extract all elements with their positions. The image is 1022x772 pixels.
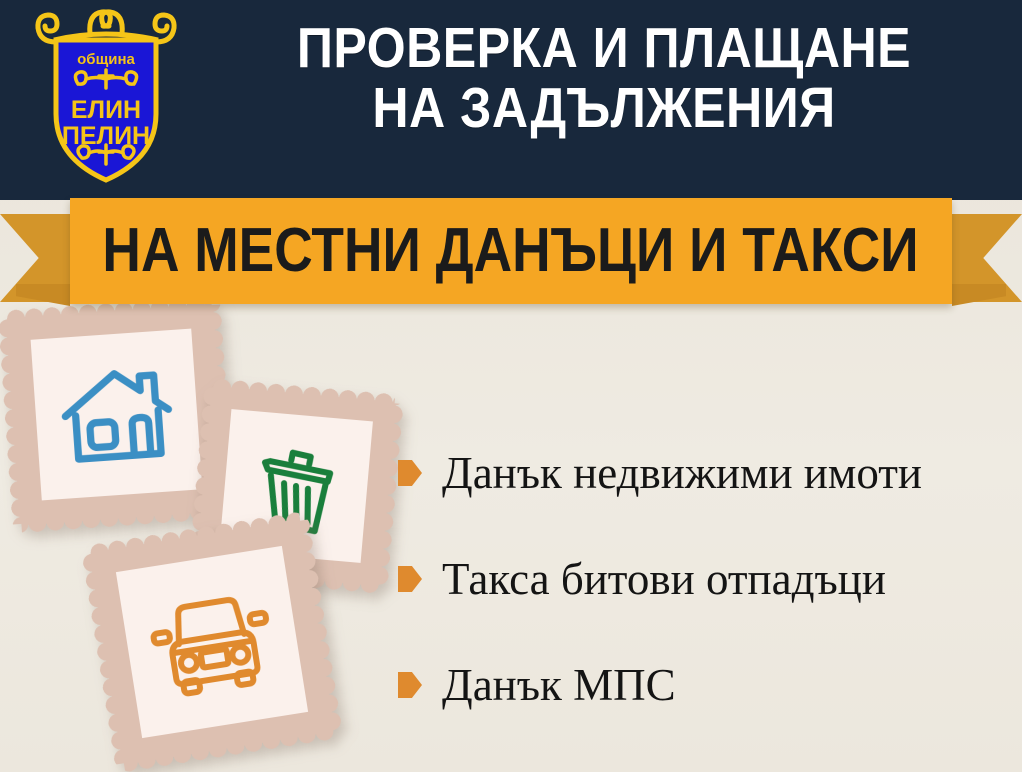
stamp-real-estate: [7, 305, 226, 524]
list-item-label: Данък МПС: [442, 661, 676, 709]
list-item-label: Данък недвижими имоти: [442, 449, 922, 497]
page-title: ПРОВЕРКА И ПЛАЩАНЕ НА ЗАДЪЛЖЕНИЯ: [236, 18, 972, 138]
ribbon-fold-right: [952, 284, 1006, 306]
list-item[interactable]: Данък МПС: [398, 632, 1008, 738]
car-icon: [139, 578, 285, 707]
ribbon-label: НА МЕСТНИ ДАНЪЦИ И ТАКСИ: [103, 220, 919, 282]
tax-types-list: Данък недвижими имоти Такса битови отпад…: [398, 420, 1008, 738]
header-bar: община ЕЛИН ПЕЛИН: [0, 0, 1022, 200]
bullet-arrow-icon: [398, 566, 422, 592]
house-icon: [50, 348, 182, 480]
coat-of-arms-icon: община ЕЛИН ПЕЛИН: [26, 6, 186, 186]
stamp-paper: [116, 546, 308, 738]
subtitle-ribbon: НА МЕСТНИ ДАНЪЦИ И ТАКСИ: [0, 196, 1022, 308]
bullet-arrow-icon: [398, 460, 422, 486]
stamp-paper: [31, 329, 203, 501]
logo-top-text: община: [77, 51, 135, 68]
page-title-line1: ПРОВЕРКА И ПЛАЩАНЕ: [236, 18, 972, 78]
stamp-vehicle-tax: [91, 521, 334, 764]
ribbon-band: НА МЕСТНИ ДАНЪЦИ И ТАКСИ: [70, 198, 952, 304]
logo-name-line1: ЕЛИН: [71, 96, 141, 124]
list-item[interactable]: Данък недвижими имоти: [398, 420, 1008, 526]
list-item[interactable]: Такса битови отпадъци: [398, 526, 1008, 632]
list-item-label: Такса битови отпадъци: [442, 555, 886, 603]
scallop-left: [0, 319, 30, 525]
bullet-arrow-icon: [398, 672, 422, 698]
poster-canvas: община ЕЛИН ПЕЛИН: [0, 0, 1022, 772]
page-title-line2: НА ЗАДЪЛЖЕНИЯ: [236, 78, 972, 138]
ribbon-fold-left: [16, 284, 70, 306]
municipality-logo: община ЕЛИН ПЕЛИН: [26, 6, 186, 186]
